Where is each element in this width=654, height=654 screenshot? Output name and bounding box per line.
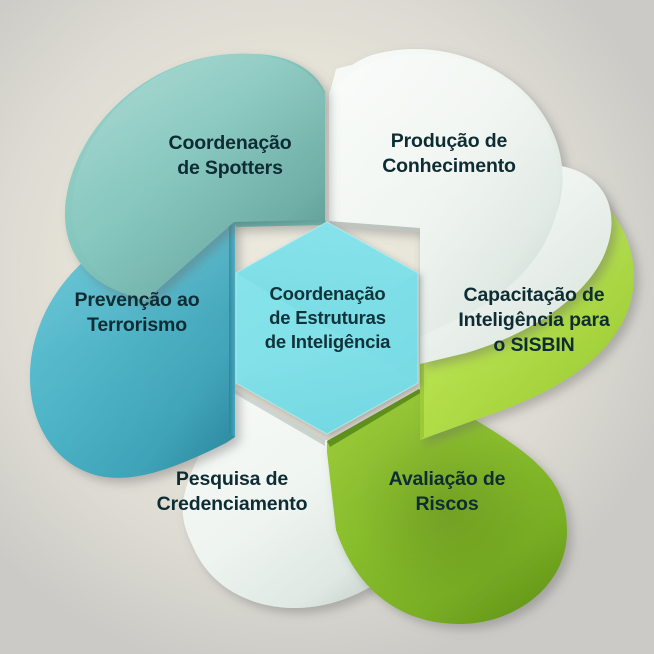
diagram-canvas: Coordenação de Spotters Produção de Conh… xyxy=(0,0,654,654)
hexagonal-petal-wheel-graphic xyxy=(0,0,654,654)
center-hexagon[interactable] xyxy=(236,222,418,434)
